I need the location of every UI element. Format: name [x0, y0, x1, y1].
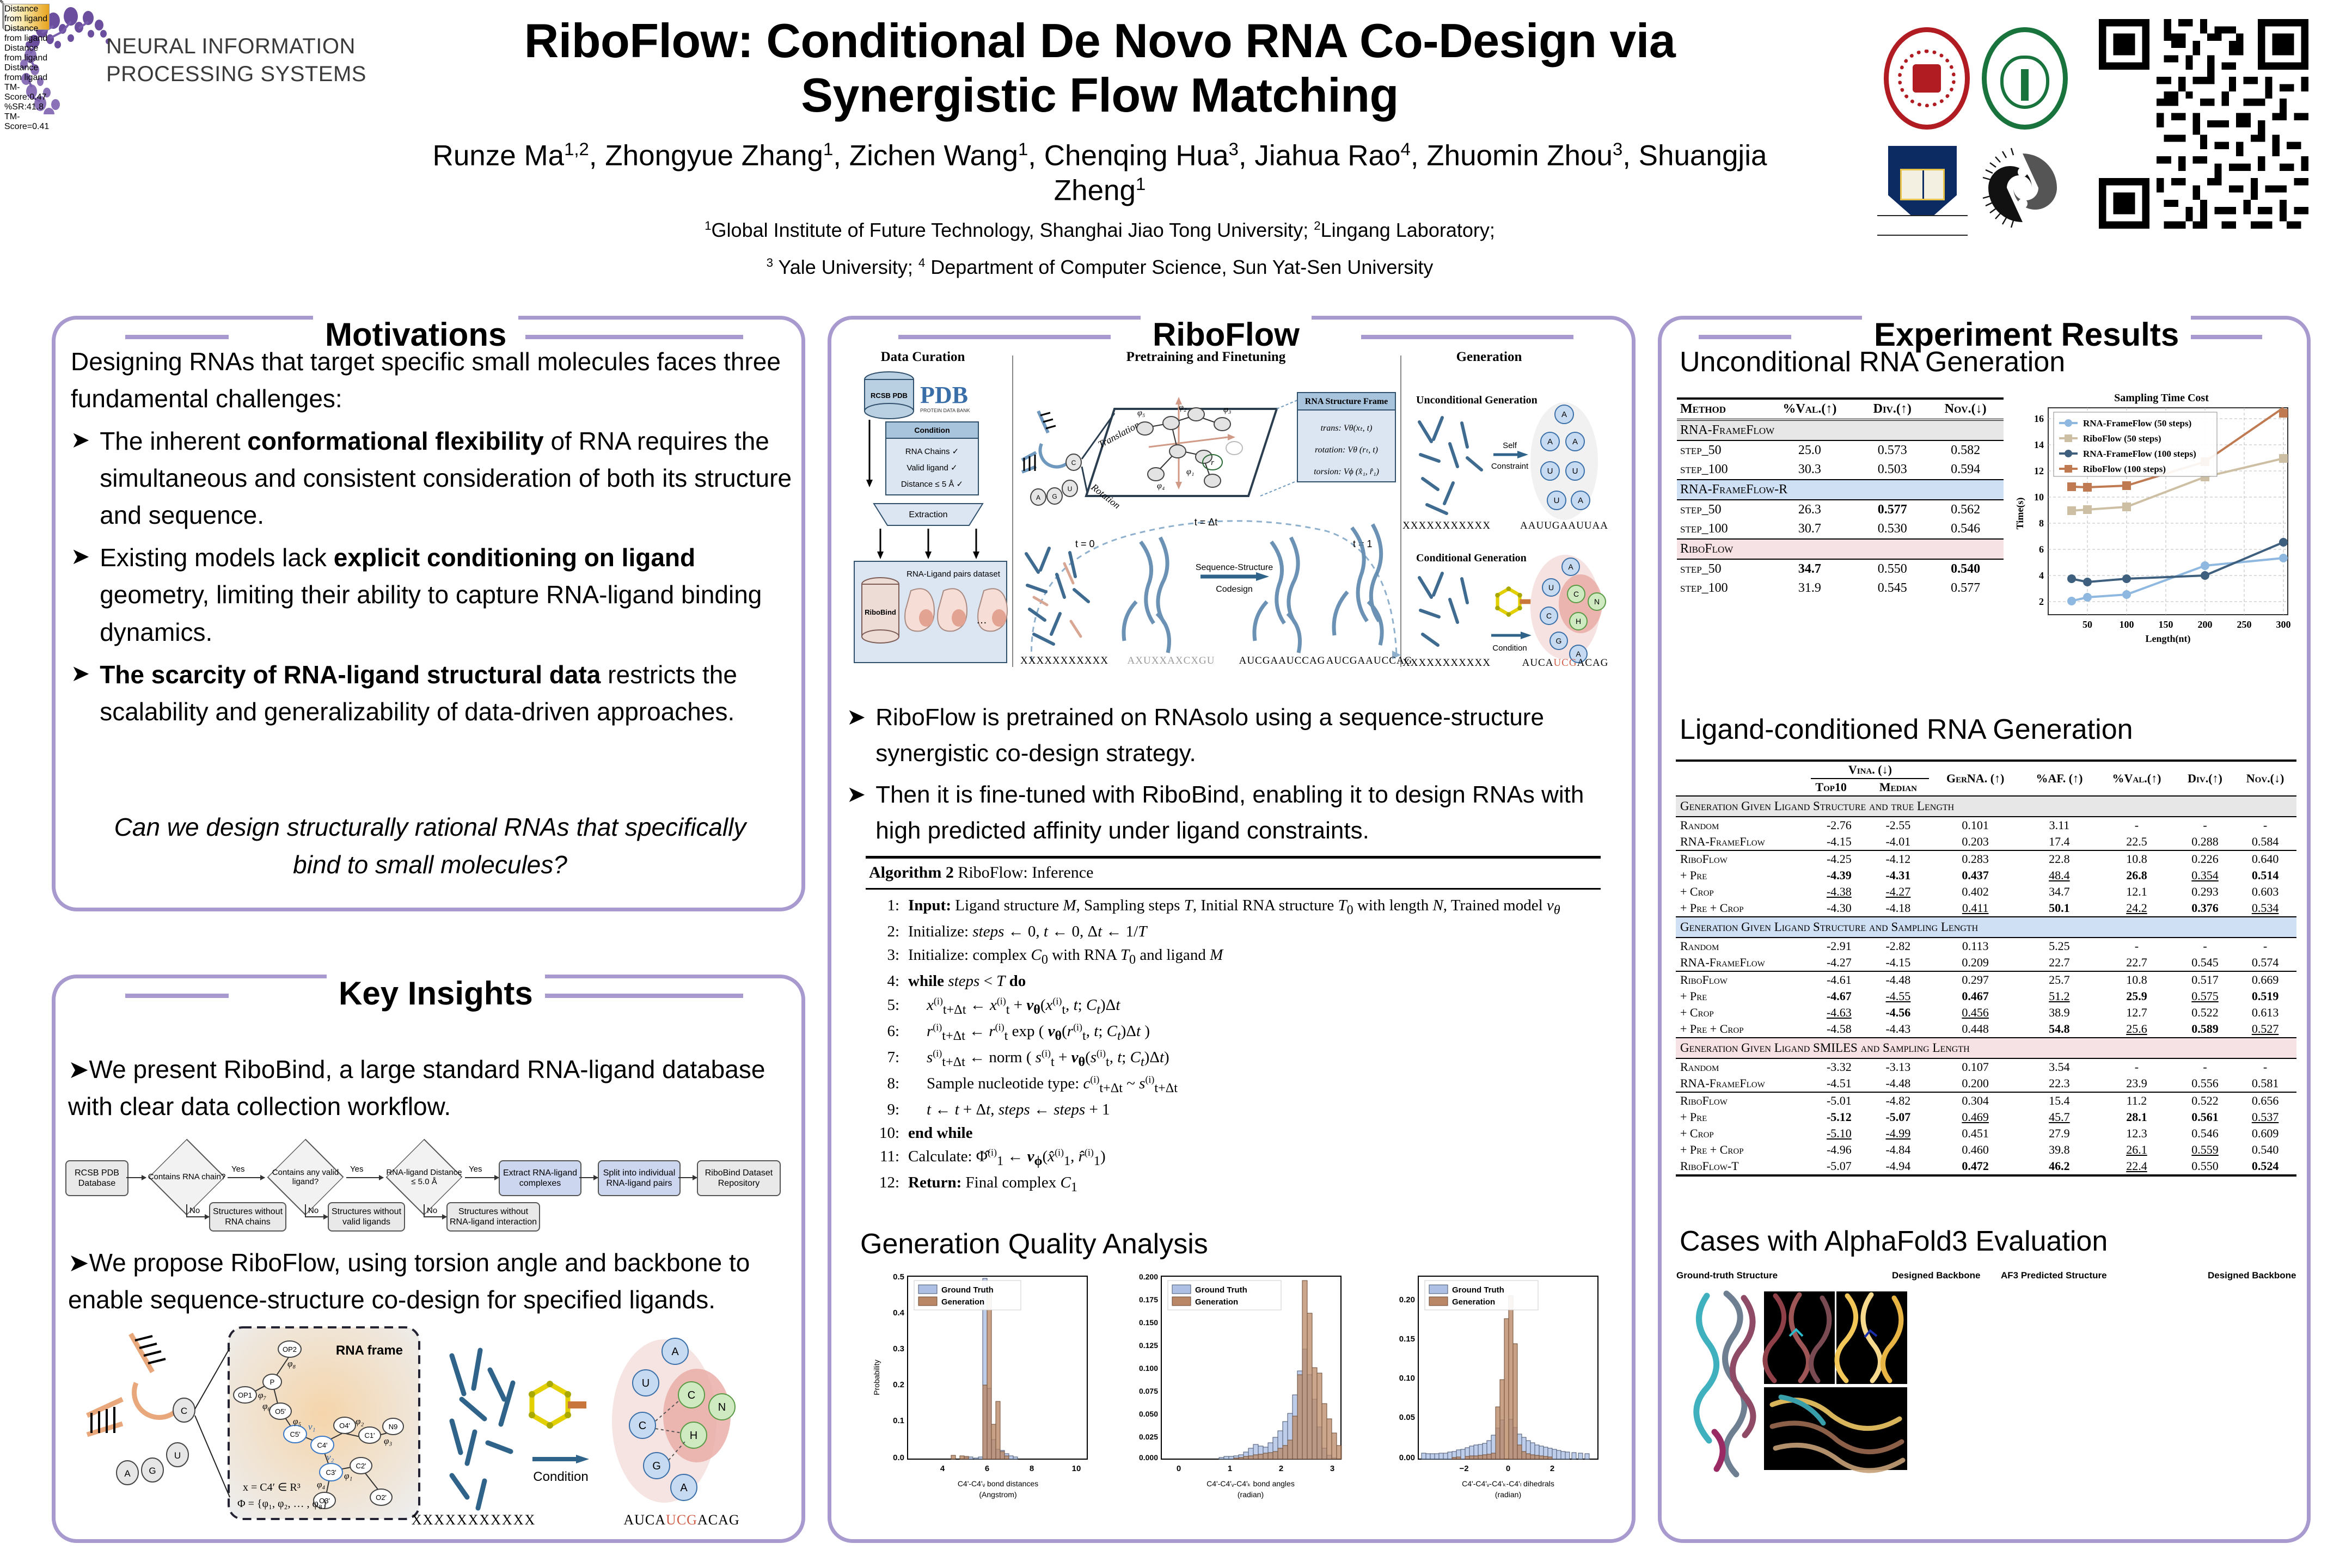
- table-cell: 12.7: [2097, 1004, 2176, 1021]
- svg-text:14: 14: [2034, 439, 2044, 450]
- svg-text:A: A: [1578, 496, 1583, 505]
- svg-text:Unconditional Generation: Unconditional Generation: [1416, 394, 1538, 406]
- svg-text:Conditional Generation: Conditional Generation: [1416, 552, 1527, 564]
- algorithm-line: 9:t ← t + Δt, steps ← steps + 1: [866, 1098, 1601, 1122]
- svg-text:N: N: [1594, 597, 1600, 606]
- svg-text:250: 250: [2237, 619, 2252, 630]
- svg-text:(radian): (radian): [1495, 1490, 1521, 1499]
- svg-text:0.1: 0.1: [893, 1416, 904, 1425]
- table-header-row: Vina. (↓) GerNA. (↑) %AF. (↑) %Val.(↑) D…: [1676, 761, 2296, 779]
- table-cell: 0.101: [1929, 817, 2021, 834]
- colorbar-label: Distance from ligand: [4, 4, 47, 23]
- row-label: RNA-FrameFlow: [1676, 1075, 1811, 1092]
- flow-arrow: [305, 1204, 306, 1216]
- table-row: Random-2.91-2.820.1135.25---: [1676, 938, 2296, 954]
- svg-text:6: 6: [985, 1464, 989, 1473]
- group-row-riboflow: RiboFlow: [1677, 539, 2004, 559]
- table-cell: -4.94: [1867, 1158, 1929, 1175]
- table-cell: 15.4: [2022, 1092, 2097, 1109]
- flow-split-node: Split into individual RNA-ligand pairs: [598, 1160, 681, 1196]
- row-label: + Crop: [1676, 1125, 1811, 1142]
- svg-text:(Angstrom): (Angstrom): [979, 1490, 1016, 1499]
- svg-text:U: U: [1068, 485, 1073, 493]
- table-cell: 0.200: [1929, 1075, 2021, 1092]
- group-row-rna-frameflow: RNA-FrameFlow: [1677, 420, 2004, 440]
- svg-text:φ₄: φ₄: [1157, 481, 1165, 491]
- table-cell: 0.354: [2176, 867, 2234, 884]
- svg-text:trans: Vθ(xₜ, t): trans: Vθ(xₜ, t): [1321, 424, 1373, 433]
- flow-repository-node: RiboBind Dataset Repository: [697, 1160, 781, 1196]
- rna-frame-diagram: C U G A RNA frame OP2 P OP1 O5' C5' C4' …: [71, 1318, 789, 1530]
- algorithm-line: 11:Calculate: Φ̂(i)1 ← vϕ(x̂(i)1, r̂(i)1…: [866, 1145, 1601, 1171]
- svg-text:Generation: Generation: [1456, 350, 1522, 364]
- flow-arrow: [424, 1216, 446, 1217]
- table-cell: 0.574: [2234, 954, 2296, 971]
- table-cell: 0.546: [2176, 1125, 2234, 1142]
- svg-text:0.0: 0.0: [893, 1453, 904, 1462]
- svg-text:A: A: [1568, 562, 1573, 571]
- table-cell: -4.27: [1811, 954, 1867, 971]
- table-cell: 0.613: [2234, 1004, 2296, 1021]
- svg-text:0.125: 0.125: [1139, 1341, 1158, 1350]
- table-section-header: Generation Given Ligand SMILES and Sampl…: [1676, 1038, 2296, 1058]
- svg-text:4: 4: [940, 1464, 945, 1473]
- svg-text:G: G: [1052, 493, 1057, 500]
- svg-text:PDB: PDB: [920, 382, 968, 408]
- sampling-time-cost-chart: Sampling Time Cost 2468 10121416 Time(s)…: [2009, 389, 2303, 661]
- flow-decision-1: Contains RNA chain?: [146, 1150, 228, 1204]
- flow-arrow: [424, 1204, 425, 1216]
- unconditional-generation-heading: Unconditional RNA Generation: [1680, 346, 2065, 378]
- chevron-right-icon: ➤: [68, 1248, 89, 1277]
- flow-arrow: [465, 1177, 499, 1178]
- svg-text:φ₂: φ₂: [356, 1416, 364, 1426]
- table-row: step_10030.30.5030.594: [1677, 460, 2004, 480]
- svg-text:50: 50: [2082, 619, 2092, 630]
- table-cell: 0.469: [1929, 1109, 2021, 1125]
- flow-arrow: [228, 1177, 265, 1178]
- key-insights-title: Key Insights: [327, 975, 545, 1012]
- svg-text:Ground Truth: Ground Truth: [941, 1285, 994, 1295]
- motivations-title-rule-right: [525, 335, 743, 339]
- table-cell: 0.575: [2176, 988, 2234, 1004]
- svg-text:0.100: 0.100: [1139, 1364, 1158, 1373]
- table-cell: 0.556: [2176, 1075, 2234, 1092]
- svg-text:Data Curation: Data Curation: [881, 350, 965, 364]
- table-cell: -4.56: [1867, 1004, 1929, 1021]
- table-cell: -4.30: [1811, 900, 1867, 917]
- svg-text:U: U: [642, 1377, 650, 1389]
- svg-text:A: A: [671, 1346, 679, 1358]
- table-cell: 27.9: [2022, 1125, 2097, 1142]
- table-row: + Pre + Crop-4.96-4.840.46039.826.10.559…: [1676, 1142, 2296, 1158]
- flow-yes-label: Yes: [469, 1165, 482, 1174]
- table-cell: -2.55: [1867, 817, 1929, 834]
- svg-text:Self: Self: [1503, 441, 1517, 450]
- table-cell: 0.640: [2234, 850, 2296, 867]
- table-cell: 24.2: [2097, 900, 2176, 917]
- table-cell: 0.540: [2234, 1142, 2296, 1158]
- svg-text:AUCGAAUCCAG: AUCGAAUCCAG: [1239, 655, 1326, 666]
- svg-text:Generation: Generation: [1195, 1297, 1238, 1307]
- svg-text:Condition: Condition: [914, 426, 950, 434]
- motivations-bullet-1: ➤ The inherent conformational flexibilit…: [71, 422, 795, 534]
- svg-text:6: 6: [2039, 544, 2044, 555]
- table-cell: 22.7: [2097, 954, 2176, 971]
- motivations-bullet-2: ➤ Existing models lack explicit conditio…: [71, 539, 795, 650]
- svg-text:300: 300: [2276, 619, 2291, 630]
- svg-text:−2: −2: [1459, 1464, 1468, 1473]
- table-cell: 0.584: [2234, 834, 2296, 850]
- affiliation-line-1: 1Global Institute of Future Technology, …: [403, 216, 1797, 245]
- table-cell: -5.10: [1811, 1125, 1867, 1142]
- col-nov: Nov.(↓): [2234, 761, 2296, 796]
- key-insights-bullet-2: ➤We propose RiboFlow, using torsion angl…: [68, 1244, 792, 1318]
- algorithm-line: 12:Return: Final complex C1: [866, 1171, 1601, 1197]
- svg-text:0.05: 0.05: [1399, 1413, 1415, 1422]
- svg-text:AUCAUCGACAG: AUCAUCGACAG: [623, 1512, 739, 1528]
- table-cell: -3.13: [1867, 1058, 1929, 1075]
- motivations-bullet-3: ➤ The scarcity of RNA-ligand structural …: [71, 656, 795, 730]
- row-label: + Pre + Crop: [1676, 900, 1811, 917]
- col-af: %AF. (↑): [2022, 761, 2097, 796]
- neurips-line2: PROCESSING SYSTEMS: [106, 60, 366, 88]
- table-row: + Pre + Crop-4.30-4.180.41150.124.20.376…: [1676, 900, 2296, 917]
- row-label: Random: [1676, 1058, 1811, 1075]
- table-cell: 10.8: [2097, 971, 2176, 988]
- table-cell: -2.76: [1811, 817, 1867, 834]
- chevron-right-icon: ➤: [71, 422, 90, 534]
- row-label: RiboFlow: [1676, 1092, 1811, 1109]
- motivations-title-rule-left: [125, 335, 229, 339]
- svg-text:RNA frame: RNA frame: [336, 1343, 403, 1358]
- flow-arrow: [305, 1216, 328, 1217]
- svg-text:C: C: [1546, 611, 1552, 620]
- svg-text:Generation: Generation: [1452, 1297, 1495, 1307]
- table-cell: 0.209: [1929, 954, 2021, 971]
- table-cell: -4.99: [1867, 1125, 1929, 1142]
- table-cell: -: [2097, 1058, 2176, 1075]
- table-row: Random-2.76-2.550.1013.11---: [1676, 817, 2296, 834]
- table-cell: 0.460: [1929, 1142, 2021, 1158]
- svg-text:Extraction: Extraction: [909, 510, 947, 519]
- svg-text:φ₈: φ₈: [287, 1358, 296, 1369]
- svg-text:16: 16: [2034, 413, 2044, 424]
- row-label: RNA-FrameFlow: [1676, 834, 1811, 850]
- svg-text:3: 3: [1330, 1464, 1334, 1473]
- svg-text:10: 10: [1072, 1464, 1081, 1473]
- svg-text:φ₃: φ₃: [1223, 405, 1231, 414]
- svg-text:Φ = {φ₁, φ₂, … , φ₈}: Φ = {φ₁, φ₂, … , φ₈}: [237, 1498, 328, 1510]
- table-row: RNA-FrameFlow-4.27-4.150.20922.722.70.54…: [1676, 954, 2296, 971]
- neurips-line1: NEURAL INFORMATION: [106, 33, 366, 60]
- flow-no-label: No: [189, 1206, 200, 1215]
- svg-text:0: 0: [1506, 1464, 1510, 1473]
- svg-text:φ₄: φ₄: [317, 1479, 325, 1490]
- svg-text:U: U: [1547, 467, 1553, 476]
- flow-extract-node: Extract RNA-ligand complexes: [499, 1160, 581, 1196]
- svg-text:C2': C2': [356, 1462, 366, 1470]
- svg-text:U: U: [174, 1450, 181, 1461]
- svg-text:RNA Structure Frame: RNA Structure Frame: [1305, 397, 1388, 406]
- table-section-header: Generation Given Ligand Structure and Sa…: [1676, 917, 2296, 938]
- row-label: + Pre: [1676, 988, 1811, 1004]
- row-label: + Pre + Crop: [1676, 1142, 1811, 1158]
- legend-item: RNA-FrameFlow (100 steps): [2083, 449, 2196, 459]
- table-row: step_5026.30.5770.562: [1677, 500, 2004, 519]
- svg-text:Codesign: Codesign: [1216, 585, 1253, 594]
- table-cell: -: [2234, 1058, 2296, 1075]
- svg-text:A: A: [1572, 437, 1578, 446]
- col-method: Method: [1677, 399, 1762, 420]
- svg-text:Constraint: Constraint: [1491, 462, 1529, 471]
- table-cell: 25.7: [2022, 971, 2097, 988]
- svg-text:Probability: Probability: [872, 1359, 881, 1395]
- table-row: RiboFlow-4.61-4.480.29725.710.80.5170.66…: [1676, 971, 2296, 988]
- col-top10: Top10: [1811, 779, 1867, 796]
- svg-text:XXXXXXXXXXX: XXXXXXXXXXX: [1020, 655, 1108, 666]
- svg-text:C1': C1': [364, 1431, 375, 1440]
- col-div: Div.(↑): [1857, 399, 1927, 420]
- table-cell: 51.2: [2022, 988, 2097, 1004]
- table-cell: 0.283: [1929, 850, 2021, 867]
- table-cell: 22.7: [2022, 954, 2097, 971]
- svg-text:0.15: 0.15: [1399, 1334, 1415, 1344]
- svg-text:0.050: 0.050: [1139, 1410, 1158, 1418]
- flow-reject-1: Structures without RNA chains: [209, 1202, 286, 1232]
- svg-text:12: 12: [2034, 465, 2044, 476]
- svg-text:XXXXXXXXXXX: XXXXXXXXXXX: [412, 1512, 536, 1528]
- svg-text:AAUUGAAUUAA: AAUUGAAUUAA: [1520, 520, 1608, 531]
- table-cell: -3.32: [1811, 1058, 1867, 1075]
- table-header-row: Method %Val.(↑) Div.(↑) Nov.(↓): [1677, 399, 2004, 420]
- row-label: RiboFlow: [1676, 971, 1811, 988]
- svg-text:0.200: 0.200: [1139, 1272, 1158, 1281]
- table-cell: 0.534: [2234, 900, 2296, 917]
- authors-line: Runze Ma1,2, Zhongyue Zhang1, Zichen Wan…: [403, 138, 1797, 209]
- svg-text:G: G: [1556, 636, 1562, 645]
- yale-motto-ribbon: [1877, 215, 1968, 236]
- svg-text:Length(nt): Length(nt): [2145, 633, 2190, 645]
- table-cell: 0.527: [2234, 1021, 2296, 1038]
- table-cell: 22.8: [2022, 850, 2097, 867]
- table-cell: 0.113: [1929, 938, 2021, 954]
- svg-text:0.00: 0.00: [1399, 1453, 1415, 1462]
- table-cell: 25.6: [2097, 1021, 2176, 1038]
- case-label-ground-truth: Ground-truth Structure: [1676, 1270, 1778, 1281]
- legend-item: RiboFlow (50 steps): [2083, 433, 2161, 444]
- svg-text:Condition: Condition: [533, 1469, 588, 1484]
- title-block: RiboFlow: Conditional De Novo RNA Co-Des…: [403, 14, 1797, 282]
- algorithm-line: 4:while steps < T do: [866, 970, 1601, 993]
- algorithm-box: Algorithm 2 RiboFlow: Inference 1:Input:…: [866, 856, 1601, 1198]
- svg-text:A: A: [1036, 494, 1040, 501]
- table-cell: -4.39: [1811, 867, 1867, 884]
- svg-text:0.150: 0.150: [1139, 1318, 1158, 1327]
- row-label: + Pre + Crop: [1676, 1021, 1811, 1038]
- col-val: %Val.(↑): [2097, 761, 2176, 796]
- svg-text:C4'-C4'ᵥ-C4'ₖ-C4'ₗ dihedrals: C4'-C4'ᵥ-C4'ₖ-C4'ₗ dihedrals: [1462, 1479, 1554, 1488]
- algorithm-line: 7:s(i)t+Δt ← norm ( s(i)t + vθ(s(i)t, t;…: [866, 1046, 1601, 1072]
- table-cell: 50.1: [2022, 900, 2097, 917]
- table-cell: 54.8: [2022, 1021, 2097, 1038]
- generation-quality-analysis-title: Generation Quality Analysis: [860, 1228, 1208, 1260]
- table-cell: 0.519: [2234, 988, 2296, 1004]
- table-cell: 0.203: [1929, 834, 2021, 850]
- svg-text:A: A: [1561, 410, 1567, 419]
- table-cell: 0.559: [2176, 1142, 2234, 1158]
- svg-text:φ₇: φ₇: [258, 1390, 266, 1400]
- svg-text:Ground Truth: Ground Truth: [1452, 1285, 1504, 1295]
- flow-no-label: No: [427, 1206, 437, 1215]
- svg-text:t = 0: t = 0: [1075, 538, 1095, 549]
- table-cell: 0.581: [2234, 1075, 2296, 1092]
- svg-text:H: H: [1576, 617, 1581, 626]
- svg-text:C: C: [181, 1406, 187, 1416]
- table-cell: -4.27: [1867, 884, 1929, 900]
- svg-text:G: G: [149, 1466, 156, 1476]
- svg-text:10: 10: [2034, 492, 2044, 503]
- col-val: %Val.(↑): [1762, 399, 1857, 420]
- table-cell: 0.472: [1929, 1158, 2021, 1175]
- table-cell: -4.15: [1867, 954, 1929, 971]
- table-cell: -4.58: [1811, 1021, 1867, 1038]
- chevron-right-icon: ➤: [847, 700, 866, 771]
- key-insights-rule-right: [544, 994, 743, 998]
- colorbar-label: Distance from ligand: [4, 24, 47, 43]
- flow-arrow: [678, 1177, 697, 1178]
- table-cell: 25.9: [2097, 988, 2176, 1004]
- svg-text:4: 4: [2039, 570, 2044, 581]
- yale-university-shield-icon: [1888, 146, 1957, 225]
- flow-arrow: [186, 1216, 209, 1217]
- table-cell: 0.537: [2234, 1109, 2296, 1125]
- table-cell: 10.8: [2097, 850, 2176, 867]
- legend-item: RiboFlow (100 steps): [2083, 464, 2166, 474]
- table-cell: -: [2176, 1058, 2234, 1075]
- table-cell: 22.3: [2022, 1075, 2097, 1092]
- table-cell: 0.297: [1929, 971, 2021, 988]
- table-cell: -4.43: [1867, 1021, 1929, 1038]
- row-label: Random: [1676, 938, 1811, 954]
- svg-text:A: A: [124, 1468, 131, 1479]
- algorithm-line: 2:Initialize: steps ← 0, t ← 0, Δt ← 1/T: [866, 920, 1601, 944]
- svg-text:C5': C5': [290, 1430, 300, 1438]
- row-label: + Crop: [1676, 884, 1811, 900]
- generation-quality-charts: 0.50.40.3 0.20.10.0 Probability 46810 C4…: [857, 1269, 1614, 1524]
- table-cell: -: [2176, 938, 2234, 954]
- table-cell: -4.48: [1867, 971, 1929, 988]
- ribobind-workflow-diagram: RCSB PDB Database Contains RNA chain? Ye…: [65, 1141, 789, 1225]
- svg-text:A: A: [1547, 437, 1553, 446]
- table-cell: 0.561: [2176, 1109, 2234, 1125]
- table-cell: -4.82: [1867, 1092, 1929, 1109]
- lingang-laboratory-logo-icon: [1982, 147, 2063, 229]
- svg-text:0.075: 0.075: [1139, 1387, 1158, 1395]
- table-row: Random-3.32-3.130.1073.54---: [1676, 1058, 2296, 1075]
- qr-code-icon[interactable]: [2099, 19, 2308, 229]
- ligand-conditioned-results-table: Vina. (↓) GerNA. (↑) %AF. (↑) %Val.(↑) D…: [1676, 759, 2296, 1177]
- chevron-right-icon: ➤: [847, 777, 866, 849]
- col-median: Median: [1867, 779, 1929, 796]
- svg-text:AXUXXAXCXGU: AXUXXAXCXGU: [1128, 655, 1215, 666]
- svg-text:O5': O5': [275, 1407, 286, 1416]
- motivations-body: Designing RNAs that target specific smal…: [71, 343, 795, 730]
- riboflow-pipeline-diagram: Data Curation Pretraining and Finetuning…: [847, 346, 1609, 672]
- svg-text:U: U: [1554, 496, 1560, 505]
- table-cell: 45.7: [2022, 1109, 2097, 1125]
- svg-text:Sequence-Structure: Sequence-Structure: [1196, 563, 1273, 572]
- flow-start-node: RCSB PDB Database: [65, 1160, 128, 1196]
- svg-text:Pretraining and Finetuning: Pretraining and Finetuning: [1126, 350, 1286, 364]
- table-cell: -4.63: [1811, 1004, 1867, 1021]
- svg-text:200: 200: [2198, 619, 2213, 630]
- table-cell: 0.437: [1929, 867, 2021, 884]
- key-insights-bullet-1: ➤We present RiboBind, a large standard R…: [68, 1051, 787, 1125]
- svg-text:Ground Truth: Ground Truth: [1195, 1285, 1247, 1295]
- table-cell: 26.8: [2097, 867, 2176, 884]
- svg-text:C: C: [1071, 459, 1076, 467]
- col-div: Div.(↑): [2176, 761, 2234, 796]
- table-row: + Crop-4.38-4.270.40234.712.10.2930.603: [1676, 884, 2296, 900]
- table-row: + Pre-4.67-4.550.46751.225.90.5750.519: [1676, 988, 2296, 1004]
- row-label: RiboFlow: [1676, 850, 1811, 867]
- table-row: + Crop-5.10-4.990.45127.912.30.5460.609: [1676, 1125, 2296, 1142]
- svg-text:0.2: 0.2: [893, 1380, 904, 1389]
- results-rule-left: [1699, 335, 1791, 339]
- table-cell: -5.12: [1811, 1109, 1867, 1125]
- svg-text:Condition: Condition: [1492, 644, 1527, 653]
- svg-text:0.20: 0.20: [1399, 1295, 1415, 1304]
- svg-text:Sampling Time Cost: Sampling Time Cost: [2114, 392, 2209, 404]
- svg-text:PROTEIN DATA BANK: PROTEIN DATA BANK: [920, 408, 970, 413]
- table-cell: 0.669: [2234, 971, 2296, 988]
- table-row: RiboFlow-5.01-4.820.30415.411.20.5220.65…: [1676, 1092, 2296, 1109]
- svg-text:AUCGAAUCCAG: AUCGAAUCCAG: [1326, 655, 1413, 666]
- flow-reject-2: Structures without valid ligands: [328, 1202, 405, 1232]
- table-cell: -5.01: [1811, 1092, 1867, 1109]
- svg-text:0.3: 0.3: [893, 1344, 904, 1353]
- svg-text:G: G: [652, 1460, 661, 1472]
- svg-text:A: A: [680, 1482, 688, 1494]
- table-cell: 0.589: [2176, 1021, 2234, 1038]
- table-row: + Pre-4.39-4.310.43748.426.80.3540.514: [1676, 867, 2296, 884]
- table-cell: 0.603: [2234, 884, 2296, 900]
- table-cell: 0.522: [2176, 1004, 2234, 1021]
- table-cell: 0.656: [2234, 1092, 2296, 1109]
- table-cell: 0.376: [2176, 900, 2234, 917]
- riboflow-bullets: ➤ RiboFlow is pretrained on RNAsolo usin…: [847, 694, 1620, 849]
- table-cell: 11.2: [2097, 1092, 2176, 1109]
- table-cell: 0.304: [1929, 1092, 2021, 1109]
- unconditional-results-table: Method %Val.(↑) Div.(↑) Nov.(↓) RNA-Fram…: [1677, 397, 2004, 598]
- svg-text:N9: N9: [389, 1423, 398, 1431]
- flow-no-label: No: [308, 1206, 318, 1215]
- table-cell: -4.55: [1867, 988, 1929, 1004]
- table-cell: -4.01: [1867, 834, 1929, 850]
- row-label: + Pre: [1676, 867, 1811, 884]
- svg-text:XXXXXXXXXXX: XXXXXXXXXXX: [1402, 657, 1491, 669]
- case-label-af3: AF3 Predicted Structure: [2001, 1270, 2107, 1281]
- flow-decision-2: Contains any valid ligand?: [265, 1150, 346, 1204]
- table-cell: -4.18: [1867, 900, 1929, 917]
- svg-text:100: 100: [2120, 619, 2134, 630]
- table-row: RiboFlow-4.25-4.120.28322.810.80.2260.64…: [1676, 850, 2296, 867]
- algorithm-line: 5:x(i)t+Δt ← x(i)t + vθ(x(i)t, t; Ct)Δt: [866, 994, 1601, 1020]
- table-cell: 23.9: [2097, 1075, 2176, 1092]
- svg-text:1: 1: [1228, 1464, 1232, 1473]
- table-cell: -4.51: [1811, 1075, 1867, 1092]
